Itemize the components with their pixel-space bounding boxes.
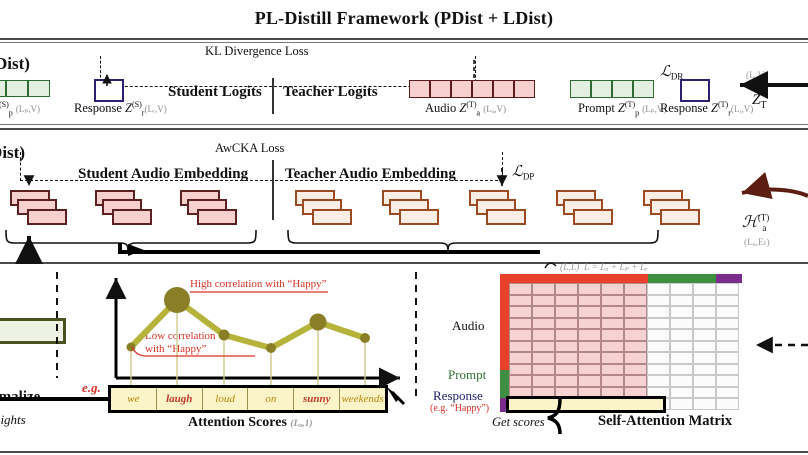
matrix-cell — [509, 364, 532, 376]
matrix-cell — [578, 318, 601, 330]
matrix-cell — [670, 283, 693, 295]
matrix-row — [509, 318, 739, 330]
student-prompt-dims: (Lₚ,V) — [16, 104, 40, 114]
matrix-cell — [601, 295, 624, 307]
matrix-cell — [555, 329, 578, 341]
matrix-cell — [647, 341, 670, 353]
student-logits-heading: Student Logits — [168, 84, 262, 101]
matrix-to-scores-arrowhead — [386, 386, 400, 402]
embedding-section-divider — [272, 160, 274, 220]
matrix-row — [509, 329, 739, 341]
matrix-cell — [624, 318, 647, 330]
embedding-card — [486, 209, 526, 225]
matrix-cell — [693, 387, 716, 399]
matrix-cell — [670, 387, 693, 399]
teacher-hidden-symbol: ℋ(T)a — [742, 212, 766, 233]
matrix-row — [509, 295, 739, 307]
logit-cell — [451, 80, 472, 98]
eg-label: e.g. — [82, 380, 101, 396]
matrix-cell — [670, 306, 693, 318]
matrix-cell — [509, 283, 532, 295]
matrix-cell — [716, 295, 739, 307]
matrix-cell — [532, 306, 555, 318]
matrix-axis-bar-prompt — [500, 370, 509, 398]
matrix-cell — [601, 375, 624, 387]
matrix-response-note: (e.g. “Happy”) — [430, 403, 489, 414]
matrix-cell — [693, 329, 716, 341]
self-attention-matrix-title: Self-Attention Matrix — [598, 413, 732, 430]
embedding-card — [112, 209, 152, 225]
teacher-embedding-stack — [556, 190, 614, 230]
matrix-cell — [693, 295, 716, 307]
feedback-arrow-head — [128, 244, 144, 256]
band-divider-bottom — [0, 451, 808, 453]
embedding-card — [660, 209, 700, 225]
teacher-embedding-stack — [643, 190, 701, 230]
band-divider-mid — [0, 128, 808, 130]
matrix-cell — [509, 318, 532, 330]
matrix-row-label-prompt: Prompt — [448, 367, 486, 383]
matrix-cell — [532, 375, 555, 387]
matrix-cell — [670, 398, 693, 410]
matrix-cell — [578, 352, 601, 364]
matrix-score-row-highlight — [506, 396, 666, 413]
matrix-cell — [624, 352, 647, 364]
matrix-cell — [693, 306, 716, 318]
awcka-loss-label: AwCKA Loss — [210, 141, 289, 156]
matrix-row — [509, 283, 739, 295]
matrix-cell — [693, 352, 716, 364]
matrix-cell — [601, 283, 624, 295]
matrix-cell — [693, 364, 716, 376]
annotation-low-correlation: Low correlation with “Happy” — [145, 330, 216, 355]
token-item[interactable]: on — [248, 388, 294, 410]
teacher-audio-embedding-heading: Teacher Audio Embedding — [285, 166, 456, 183]
matrix-cell — [555, 295, 578, 307]
student-response-caption: Response Z(S)r(Lᵣ,V) — [74, 100, 167, 118]
matrix-cell — [578, 375, 601, 387]
figure-title: PL-Distill Framework (PDist + LDist) — [0, 8, 808, 29]
matrix-cell — [647, 283, 670, 295]
kl-divergence-loss-label: KL Divergence Loss — [200, 44, 313, 59]
teacher-response-logit-box — [680, 79, 710, 102]
matrix-dims-label: (L,L) L = Lₐ + Lₚ + Lᵣ — [560, 262, 648, 273]
loss-dp-label: ℒDP — [512, 162, 534, 182]
logit-cell — [28, 80, 50, 97]
logit-cell — [570, 80, 591, 98]
matrix-cell — [647, 364, 670, 376]
matrix-axis-top-audio — [500, 274, 648, 283]
matrix-cell — [532, 341, 555, 353]
matrix-cell — [555, 318, 578, 330]
logit-cell — [493, 80, 514, 98]
matrix-cell — [716, 398, 739, 410]
token-item[interactable]: laugh — [157, 388, 203, 410]
weights-label: weights — [0, 412, 26, 428]
embedding-card — [27, 209, 67, 225]
matrix-cell — [716, 329, 739, 341]
matrix-cell — [693, 318, 716, 330]
chart-point-sunny — [310, 314, 327, 331]
token-item[interactable]: loud — [203, 388, 249, 410]
matrix-cell — [624, 295, 647, 307]
matrix-cell — [532, 352, 555, 364]
matrix-cell — [555, 375, 578, 387]
matrix-cell — [578, 329, 601, 341]
matrix-cell — [532, 318, 555, 330]
matrix-cell — [716, 318, 739, 330]
matrix-cell — [716, 306, 739, 318]
matrix-cell — [693, 398, 716, 410]
matrix-cell — [555, 341, 578, 353]
logit-cell — [591, 80, 612, 98]
attention-scores-caption: Attention Scores (Lₐ,1) — [188, 415, 313, 431]
matrix-row-label-audio: Audio — [452, 318, 485, 334]
logits-section-divider — [272, 78, 274, 114]
token-item[interactable]: sunny — [294, 388, 340, 410]
logit-cell — [409, 80, 430, 98]
matrix-cell — [647, 318, 670, 330]
embedding-card — [197, 209, 237, 225]
matrix-cell — [647, 295, 670, 307]
matrix-row-label-response: Response — [433, 388, 483, 404]
logit-cell — [430, 80, 451, 98]
matrix-row — [509, 352, 739, 364]
matrix-axis-bar-audio — [500, 274, 509, 370]
matrix-cell — [578, 295, 601, 307]
chart-point-laugh — [164, 287, 190, 313]
student-response-logit-box — [94, 79, 124, 102]
matrix-cell — [716, 387, 739, 399]
embedding-card — [573, 209, 613, 225]
zt-dims-label: (L,V) — [746, 71, 767, 81]
token-item[interactable]: weekends — [340, 388, 385, 410]
logit-band-inner-top — [0, 42, 808, 43]
student-audio-embedding-heading: Student Audio Embedding — [78, 166, 248, 183]
matrix-cell — [647, 306, 670, 318]
get-scores-label: Get scores — [492, 415, 545, 430]
matrix-cell — [670, 341, 693, 353]
teacher-embedding-brace — [288, 230, 658, 252]
matrix-cell — [555, 352, 578, 364]
logit-cell — [633, 80, 654, 98]
chart-point-loud — [219, 330, 230, 341]
teacher-audio-logits-strip — [409, 80, 535, 98]
student-prompt-caption: Z(S)p (Lₚ,V) — [0, 100, 40, 118]
student-embedding-stack — [10, 190, 68, 230]
student-prompt-logits-strip — [0, 80, 50, 97]
self-attention-matrix — [509, 283, 739, 410]
matrix-cell — [601, 318, 624, 330]
teacher-embedding-stack — [295, 190, 353, 230]
teacher-to-student-feedback-rail — [120, 243, 540, 252]
teacher-prompt-logits-strip — [570, 80, 654, 98]
matrix-cell — [509, 375, 532, 387]
matrix-cell — [601, 329, 624, 341]
matrix-row — [509, 306, 739, 318]
matrix-cell — [693, 375, 716, 387]
logit-cell — [514, 80, 535, 98]
matrix-cell — [578, 364, 601, 376]
matrix-cell — [716, 375, 739, 387]
figure-canvas: PL-Distill Framework (PDist + LDist) (LD… — [0, 0, 808, 455]
chart-point-we — [127, 343, 136, 352]
matrix-cell — [509, 329, 532, 341]
matrix-cell — [578, 283, 601, 295]
matrix-cell — [716, 352, 739, 364]
matrix-to-scores-arrow — [392, 392, 404, 404]
student-embedding-stack — [95, 190, 153, 230]
zt-symbol-label: ZT — [752, 92, 766, 111]
matrix-row — [509, 375, 739, 387]
matrix-cell — [716, 364, 739, 376]
chart-point-weekends — [360, 333, 370, 343]
annotation-high-correlation: High correlation with “Happy” — [190, 278, 327, 291]
matrix-cell — [601, 341, 624, 353]
logit-cell — [472, 80, 493, 98]
matrix-cell — [624, 364, 647, 376]
student-embedding-stack — [180, 190, 238, 230]
matrix-cell — [670, 295, 693, 307]
matrix-cell — [532, 329, 555, 341]
matrix-cell — [555, 364, 578, 376]
teacher-hidden-dims: (Lₐ,Eₜ) — [744, 237, 770, 248]
awcka-loss-dashed-right — [502, 152, 503, 180]
matrix-cell — [693, 341, 716, 353]
chart-point-on — [266, 343, 276, 353]
matrix-cell — [647, 375, 670, 387]
teacher-embedding-stack — [469, 190, 527, 230]
teacher-prompt-caption: Prompt Z(T)p (Lₚ,V) — [578, 100, 666, 118]
matrix-cell — [670, 329, 693, 341]
student-embedding-brace — [6, 230, 256, 252]
logit-band-inner-bottom — [0, 124, 808, 125]
matrix-cell — [555, 283, 578, 295]
embedding-card — [312, 209, 352, 225]
loss-dr-label: ℒDR — [660, 62, 683, 82]
token-bar: we laugh loud on sunny weekends — [108, 385, 388, 413]
band-label-ldist: (LDist) — [0, 54, 30, 74]
matrix-cell — [601, 306, 624, 318]
matrix-cell — [624, 375, 647, 387]
matrix-axis-top-prompt — [648, 274, 716, 283]
matrix-cell — [509, 295, 532, 307]
token-item[interactable]: we — [111, 388, 157, 410]
matrix-cell — [647, 329, 670, 341]
matrix-cell — [578, 306, 601, 318]
matrix-cell — [647, 352, 670, 364]
matrix-cell — [601, 352, 624, 364]
matrix-cell — [624, 329, 647, 341]
matrix-cell — [670, 375, 693, 387]
matrix-cell — [532, 295, 555, 307]
normalize-label: rmalize — [0, 389, 40, 406]
matrix-cell — [670, 318, 693, 330]
logit-cell — [612, 80, 633, 98]
matrix-cell — [624, 283, 647, 295]
teacher-audio-caption: Audio Z(T)a (Lₐ,V) — [425, 100, 506, 118]
matrix-axis-top-response — [716, 274, 742, 283]
teacher-embedding-stack — [382, 190, 440, 230]
teacher-logits-heading: Teacher Logits — [283, 84, 378, 101]
matrix-cell — [509, 306, 532, 318]
matrix-cell — [509, 341, 532, 353]
matrix-cell — [716, 341, 739, 353]
teacher-hidden-input-arrow — [742, 190, 808, 196]
matrix-cell — [716, 283, 739, 295]
band-divider-low — [0, 262, 808, 264]
matrix-cell — [601, 364, 624, 376]
matrix-cell — [578, 341, 601, 353]
matrix-cell — [624, 341, 647, 353]
matrix-row — [509, 364, 739, 376]
matrix-row — [509, 341, 739, 353]
matrix-cell — [670, 364, 693, 376]
annotation-low-leader — [132, 347, 146, 356]
matrix-cell — [670, 352, 693, 364]
matrix-cell — [555, 306, 578, 318]
teacher-response-caption: Response Z(T)r(Lᵣ,V) — [660, 100, 753, 118]
matrix-cell — [532, 283, 555, 295]
matrix-cell — [624, 306, 647, 318]
logit-cell — [6, 80, 28, 97]
matrix-cell — [532, 364, 555, 376]
matrix-cell — [509, 352, 532, 364]
band-divider-top — [0, 38, 808, 40]
matrix-cell — [693, 283, 716, 295]
embedding-card — [399, 209, 439, 225]
normalize-box — [0, 318, 66, 344]
